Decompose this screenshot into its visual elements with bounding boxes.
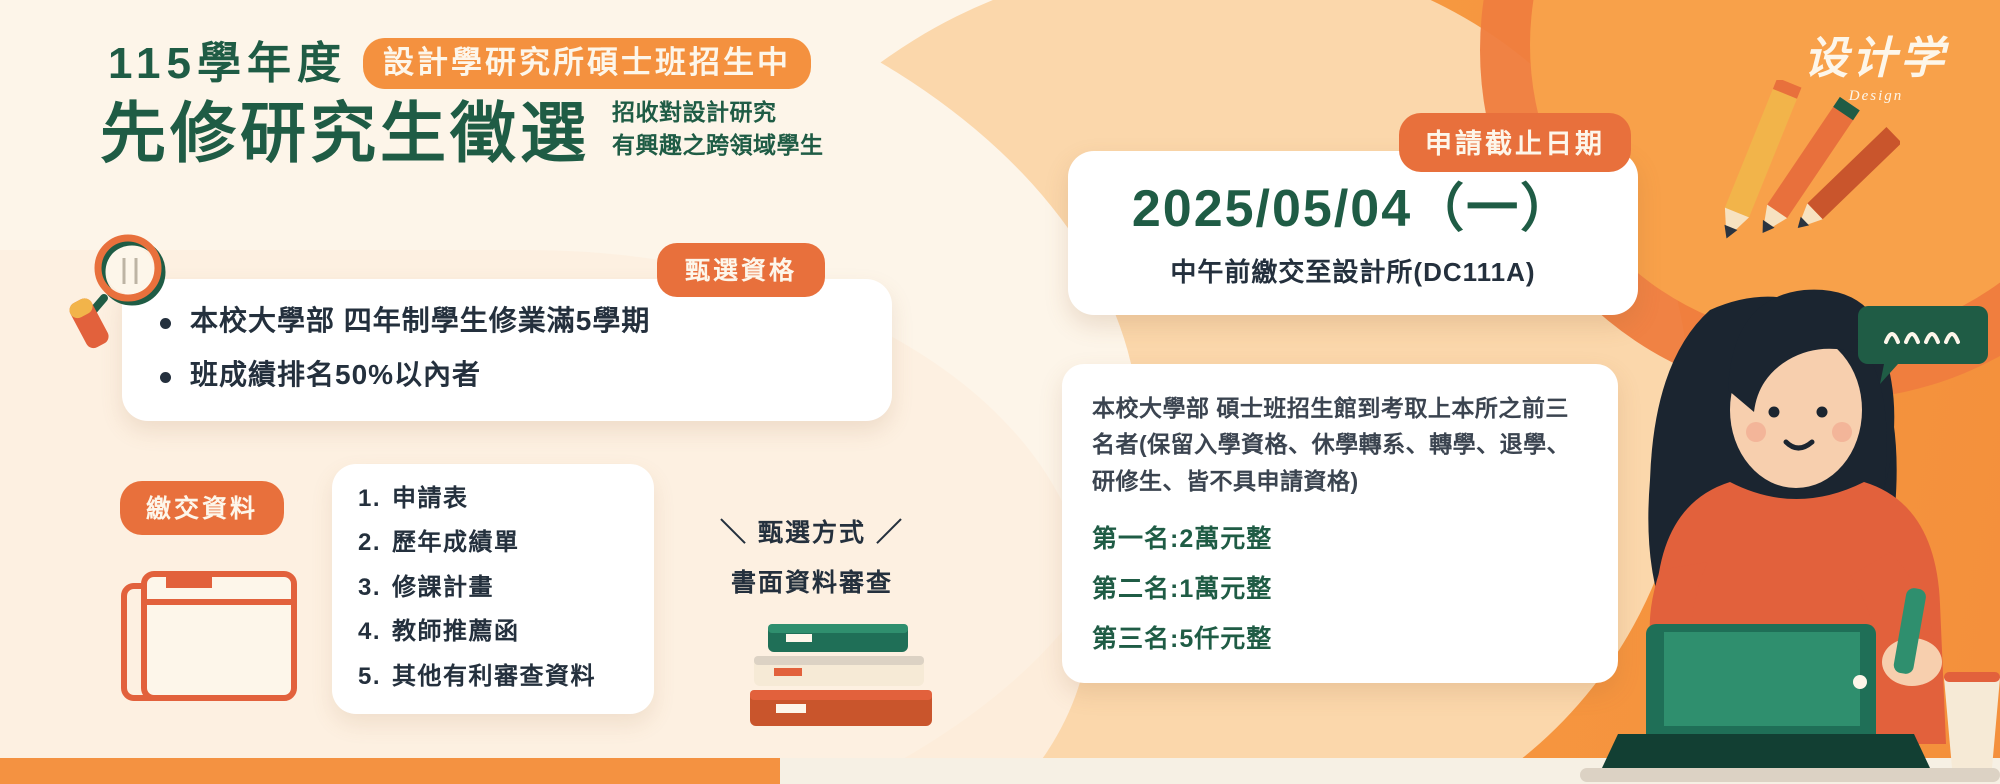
list-item: 其他有利審查資料 <box>358 664 628 690</box>
deadline-badge: 申請截止日期 <box>1399 113 1631 172</box>
title-subtext-line2: 有興趣之跨領域學生 <box>612 129 824 162</box>
admission-banner: 设计学 Design <box>0 0 2000 784</box>
deadline-card: 2025/05/04（一） 中午前繳交至設計所(DC111A) <box>1068 151 1638 315</box>
pencils-icon <box>1680 80 1900 285</box>
list-item: 歷年成績單 <box>358 530 628 556</box>
logo-chinese: 设计学 <box>1804 22 1948 86</box>
title-subtext-line1: 招收對設計研究 <box>612 96 824 129</box>
list-item: 修課計畫 <box>358 575 628 601</box>
list-item: 班成績排名50%以內者 <box>156 359 858 391</box>
list-item: 申請表 <box>358 486 628 512</box>
eligibility-list: 本校大學部 四年制學生修業滿5學期 班成績排名50%以內者 <box>156 305 858 391</box>
submission-list: 申請表 歷年成績單 修課計畫 教師推薦函 其他有利審查資料 <box>358 486 628 690</box>
slash-left: ＼ <box>720 512 748 549</box>
submission-card: 申請表 歷年成績單 修課計畫 教師推薦函 其他有利審查資料 <box>332 464 654 714</box>
award-note: 本校大學部 碩士班招生館到考取上本所之前三名者(保留入學資格、休學轉系、轉學、退… <box>1092 390 1588 499</box>
eraser-icon <box>60 290 120 365</box>
list-item: 第二名:1萬元整 <box>1092 569 1588 605</box>
title-row-main: 先修研究生徵選 招收對設計研究 有興趣之跨領域學生 <box>100 96 824 169</box>
logo-english: Design <box>1804 88 1948 105</box>
academic-year-text: 115學年度 <box>108 42 347 86</box>
list-item: 第一名:2萬元整 <box>1092 519 1588 555</box>
page-title: 先修研究生徵選 <box>100 99 590 168</box>
folder-icon <box>110 560 300 715</box>
selection-method-title: 甄選方式 <box>758 513 866 549</box>
eligibility-card: 本校大學部 四年制學生修業滿5學期 班成績排名50%以內者 <box>122 279 892 421</box>
selection-method-value: 書面資料審查 <box>720 563 904 599</box>
award-card: 本校大學部 碩士班招生館到考取上本所之前三名者(保留入學資格、休學轉系、轉學、退… <box>1062 364 1618 683</box>
selection-method-title-row: ＼ 甄選方式 ／ <box>720 512 904 549</box>
list-item: 教師推薦函 <box>358 619 628 645</box>
eligibility-badge: 甄選資格 <box>657 243 825 297</box>
list-item: 第三名:5仟元整 <box>1092 619 1588 655</box>
submission-badge: 繳交資料 <box>120 481 284 535</box>
deadline-note: 中午前繳交至設計所(DC111A) <box>1088 252 1618 289</box>
speech-bubble-icon <box>1858 300 1988 395</box>
design-logo: 设计学 Design <box>1804 22 1948 105</box>
deadline-date: 2025/05/04（一） <box>1088 181 1618 238</box>
list-item: 本校大學部 四年制學生修業滿5學期 <box>156 305 858 337</box>
books-icon <box>740 600 940 755</box>
title-row-year: 115學年度 設計學研究所碩士班招生中 <box>108 38 811 89</box>
selection-method-block: ＼ 甄選方式 ／ 書面資料審查 <box>720 512 904 599</box>
title-subtext: 招收對設計研究 有興趣之跨領域學生 <box>612 96 824 169</box>
slash-right: ／ <box>876 512 904 549</box>
program-pill-badge: 設計學研究所碩士班招生中 <box>363 38 811 89</box>
award-prize-list: 第一名:2萬元整 第二名:1萬元整 第三名:5仟元整 <box>1092 519 1588 655</box>
